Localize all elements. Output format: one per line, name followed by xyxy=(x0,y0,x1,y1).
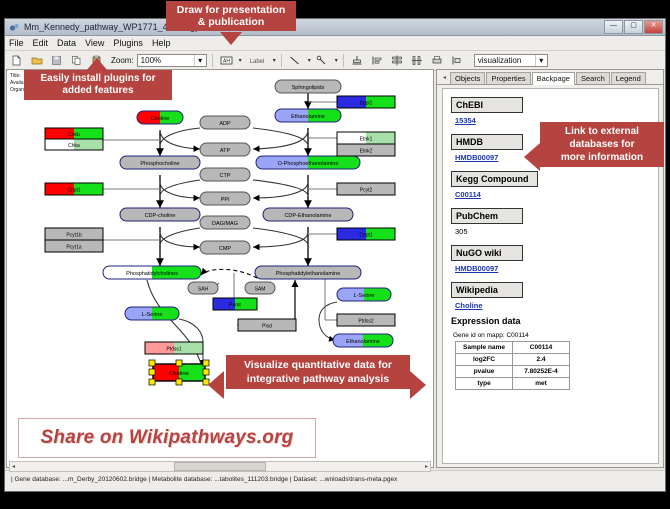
node-label: Pcyt2 xyxy=(360,188,373,194)
node-choline-top[interactable]: Choline xyxy=(137,111,183,124)
zoom-label: Zoom: xyxy=(111,56,134,65)
node-sam[interactable]: SAM xyxy=(245,282,275,294)
zoom-combobox[interactable]: 100% ▾ xyxy=(137,54,207,67)
node-label: Chpt1 xyxy=(67,188,81,194)
node-ethanolamine-top[interactable]: Ethanolamine xyxy=(275,109,341,122)
node-pisd[interactable]: Pisd xyxy=(238,319,296,331)
node-choline-selected[interactable]: Choline xyxy=(149,360,209,385)
link-kegg-compound[interactable]: C00114 xyxy=(455,190,658,199)
window-controls: — ▢ ✕ xyxy=(604,20,663,34)
node-adp[interactable]: ADP xyxy=(200,116,250,129)
node-ctp[interactable]: CTP xyxy=(200,168,250,181)
node-chkb[interactable]: Chkb xyxy=(45,128,103,139)
layer-icon[interactable] xyxy=(449,52,466,69)
callout-arrow-down xyxy=(220,32,242,45)
node-ppi[interactable]: PPi xyxy=(200,192,250,205)
node-ptdss1[interactable]: Ptdss1 xyxy=(145,342,203,354)
tab-properties[interactable]: Properties xyxy=(486,72,530,84)
node-label: Phosphatidylcholines xyxy=(126,271,178,277)
table-row: pvalue 7.80252E-4 xyxy=(456,366,570,378)
menu-view[interactable]: View xyxy=(85,38,104,48)
node-sah[interactable]: SAH xyxy=(188,282,218,294)
tab-backpage[interactable]: Backpage xyxy=(532,72,575,85)
chevron-down-icon[interactable]: ▾ xyxy=(535,55,547,66)
node-pcyt1b[interactable]: Pcyt1b xyxy=(45,228,103,240)
menu-edit[interactable]: Edit xyxy=(33,38,49,48)
link-wikipedia[interactable]: Choline xyxy=(455,301,658,310)
node-ptdss2[interactable]: Ptdss2 xyxy=(337,314,395,326)
menu-plugins[interactable]: Plugins xyxy=(113,38,143,48)
node-label: Pisd xyxy=(262,324,272,330)
link-nugo-wiki[interactable]: HMDB00097 xyxy=(455,264,658,273)
callout-arrow-left xyxy=(208,371,224,399)
canvas-horizontal-scrollbar[interactable]: ◂ ▸ xyxy=(9,461,431,472)
maximize-button[interactable]: ▢ xyxy=(624,20,643,34)
line-icon[interactable] xyxy=(287,52,304,69)
node-pemt[interactable]: Pemt xyxy=(213,298,257,310)
node-sgpl1[interactable]: Sgpl1 xyxy=(337,96,395,108)
callout-line1: Visualize quantitative data for xyxy=(244,359,392,371)
pathway-canvas[interactable]: Title: Availa Organ xyxy=(6,69,434,468)
section-header-chebi: ChEBI xyxy=(451,97,523,113)
node-label: Cept1 xyxy=(359,233,373,239)
callout-line2: databases for xyxy=(569,139,634,150)
minimize-button[interactable]: — xyxy=(604,20,623,34)
tab-legend[interactable]: Legend xyxy=(611,72,646,84)
callout-install-plugins: Easily install plugins for added feature… xyxy=(24,70,172,100)
callout-line1: Draw for presentation xyxy=(177,4,286,16)
node-l-serine-left[interactable]: L-Serine xyxy=(125,307,179,320)
node-label: DAG/MAG xyxy=(212,221,238,227)
section-header-kegg-compound: Kegg Compound xyxy=(451,171,538,187)
node-label: L-Serine xyxy=(142,312,163,318)
label-icon[interactable]: Label xyxy=(245,52,269,69)
cell-label: log2FC xyxy=(456,354,513,366)
node-phosphatidylethanolamine[interactable]: Phosphatidylethanolamine xyxy=(255,266,361,279)
node-label: CDP-choline xyxy=(145,213,176,219)
callout-line3: more information xyxy=(561,152,643,163)
save-icon[interactable] xyxy=(48,52,65,69)
node-etnk2[interactable]: Etnk2 xyxy=(337,144,395,156)
node-label: Phosphatidylethanolamine xyxy=(276,271,341,277)
node-label: Pemt xyxy=(229,303,241,309)
callout-line1: Easily install plugins for xyxy=(40,73,155,84)
callout-arrow-up xyxy=(86,58,108,71)
cell-value: 2.4 xyxy=(513,354,570,366)
value-pubchem: 305 xyxy=(455,227,658,236)
node-chpt1[interactable]: Chpt1 xyxy=(45,183,103,195)
callout-share-wikipathways: Share on Wikipathways.org xyxy=(18,418,316,458)
chevron-down-icon[interactable]: ▾ xyxy=(273,57,276,64)
callout-arrow-left xyxy=(524,143,540,171)
section-header-pubchem: PubChem xyxy=(451,208,523,224)
label-text: Label xyxy=(249,59,264,65)
node-label: PPi xyxy=(221,197,230,203)
callout-draw-presentation: Draw for presentation & publication xyxy=(166,1,296,31)
data-node-icon[interactable]: AH xyxy=(218,52,235,69)
node-label: Chkb xyxy=(68,132,80,138)
scrollbar-thumb[interactable] xyxy=(174,462,266,471)
node-label: Ptdss2 xyxy=(358,319,374,325)
window-titlebar: Mm_Kennedy_pathway_WP1771_45176.gpml — ▢… xyxy=(5,19,665,36)
svg-text:AH: AH xyxy=(223,59,230,65)
node-label: CMP xyxy=(219,246,232,252)
spacer xyxy=(451,236,658,243)
toolbar-separator xyxy=(281,54,282,67)
node-label: Ptdss1 xyxy=(166,347,182,353)
node-l-serine-right[interactable]: L-Serine xyxy=(337,288,391,301)
scroll-right-icon[interactable]: ▸ xyxy=(423,463,430,470)
node-label: Sgpl1 xyxy=(360,101,373,107)
node-label: Sphingolipids xyxy=(292,85,325,91)
anchor-icon[interactable] xyxy=(314,52,331,69)
node-pcyt2[interactable]: Pcyt2 xyxy=(337,183,395,195)
app-icon xyxy=(9,22,20,33)
share-text: Share on Wikipathways.org xyxy=(41,427,294,449)
tab-objects[interactable]: Objects xyxy=(450,72,485,84)
align-left-icon[interactable] xyxy=(369,52,386,69)
toolbar-separator xyxy=(212,54,213,67)
node-label: SAH xyxy=(198,287,209,293)
node-label: Etnk1 xyxy=(360,137,373,143)
callout-line2: & publication xyxy=(198,16,265,28)
node-dag-mag[interactable]: DAG/MAG xyxy=(200,216,250,229)
spacer xyxy=(451,273,658,280)
visualization-combobox[interactable]: visualization ▾ xyxy=(474,54,548,67)
node-pcyt1a[interactable]: Pcyt1a xyxy=(45,240,103,252)
spacer xyxy=(451,199,658,206)
node-label: Ethanolamine xyxy=(291,114,325,120)
section-header-hmdb: HMDB xyxy=(451,134,523,150)
callout-line2: integrative pathway analysis xyxy=(247,373,389,385)
node-sphingolipids[interactable]: Sphingolipids xyxy=(275,80,341,93)
section-header-wikipedia: Wikipedia xyxy=(451,282,523,298)
node-phosphatidylcholines[interactable]: Phosphatidylcholines xyxy=(103,266,201,279)
toolbar-separator xyxy=(343,54,344,67)
node-label: Pcyt1b xyxy=(66,233,82,239)
node-cept1[interactable]: Cept1 xyxy=(337,228,395,240)
distribute-horizontal-icon[interactable] xyxy=(409,52,426,69)
cell-label: pvalue xyxy=(456,366,513,378)
open-folder-icon[interactable] xyxy=(28,52,45,69)
distribute-vertical-icon[interactable] xyxy=(389,52,406,69)
menu-help[interactable]: Help xyxy=(152,38,171,48)
zoom-value: 100% xyxy=(141,56,161,65)
menu-file[interactable]: File xyxy=(9,38,24,48)
chevron-down-icon[interactable]: ▾ xyxy=(239,57,242,64)
node-phosphocholine[interactable]: Phosphocholine xyxy=(120,156,200,169)
chevron-down-icon[interactable]: ▾ xyxy=(308,57,311,64)
status-text: | Gene database: ...m_Derby_20120602.bri… xyxy=(11,476,397,483)
node-chka[interactable]: Chka xyxy=(45,139,103,150)
print-icon[interactable] xyxy=(429,52,446,69)
callout-line2: added features xyxy=(62,85,133,96)
node-label: ADP xyxy=(219,121,231,127)
tab-scroll-icon[interactable]: ◂ xyxy=(443,74,448,84)
menubar: File Edit Data View Plugins Help xyxy=(5,36,665,51)
node-label: Choline xyxy=(169,371,189,377)
align-center-icon[interactable] xyxy=(349,52,366,69)
section-header-nugo-wiki: NuGO wiki xyxy=(451,245,523,261)
statusbar: ◂ ▸ | Gene database: ...m_Derby_20120602… xyxy=(5,470,665,491)
chevron-down-icon[interactable]: ▾ xyxy=(335,57,338,64)
callout-line1: Link to external xyxy=(565,126,639,137)
expression-data-heading: Expression data xyxy=(451,316,658,326)
chevron-down-icon[interactable]: ▾ xyxy=(194,55,206,66)
node-cmp[interactable]: CMP xyxy=(200,241,250,254)
node-etnk1[interactable]: Etnk1 xyxy=(337,132,395,144)
copy-icon[interactable] xyxy=(68,52,85,69)
node-label: CTP xyxy=(220,173,231,179)
gene-id-line: Gene id on mapp: C00114 xyxy=(453,332,658,339)
node-label: Pcyt1a xyxy=(66,245,82,251)
tab-search[interactable]: Search xyxy=(576,72,610,84)
node-label: SAM xyxy=(255,287,266,293)
scroll-left-icon[interactable]: ◂ xyxy=(10,463,17,470)
new-file-icon[interactable] xyxy=(8,52,25,69)
node-label: Ethanolamine xyxy=(346,339,380,345)
node-label: CDP-Ethanolamine xyxy=(284,213,331,219)
table-row: Sample name C00114 xyxy=(456,342,570,354)
cell-value: 7.80252E-4 xyxy=(513,366,570,378)
node-label: Etnk2 xyxy=(360,149,373,155)
callout-arrow-right xyxy=(410,371,426,399)
cell-value: C00114 xyxy=(513,342,570,354)
cell-label: type xyxy=(456,378,513,390)
node-label: Phosphocholine xyxy=(140,161,179,167)
node-cdp-choline[interactable]: CDP-choline xyxy=(120,208,200,221)
close-button[interactable]: ✕ xyxy=(644,20,663,34)
callout-external-links: Link to external databases for more info… xyxy=(540,122,664,167)
sidebar-tabs: ◂ Objects Properties Backpage Search Leg… xyxy=(437,70,663,85)
callout-visualize-quantitative: Visualize quantitative data for integrat… xyxy=(226,355,410,389)
table-row: log2FC 2.4 xyxy=(456,354,570,366)
node-label: O-Phosphoethanolamine xyxy=(278,161,339,167)
node-label: ATP xyxy=(220,148,231,154)
screenshot-root: Mm_Kennedy_pathway_WP1771_45176.gpml — ▢… xyxy=(0,0,670,509)
node-atp[interactable]: ATP xyxy=(200,143,250,156)
expression-table: Sample name C00114 log2FC 2.4 pvalue 7.8… xyxy=(455,341,570,390)
pathway-diagram[interactable]: Choline ADP ATP Phosphocholine xyxy=(7,70,434,468)
visualization-value: visualization xyxy=(478,56,522,65)
node-ethanolamine-right[interactable]: Ethanolamine xyxy=(333,334,393,347)
node-o-phosphoethanolamine[interactable]: O-Phosphoethanolamine xyxy=(256,156,360,169)
menu-data[interactable]: Data xyxy=(57,38,76,48)
table-row: type met xyxy=(456,378,570,390)
node-cdp-ethanolamine[interactable]: CDP-Ethanolamine xyxy=(263,208,353,221)
cell-value: met xyxy=(513,378,570,390)
node-label: Chka xyxy=(68,143,80,149)
node-label: Choline xyxy=(151,116,170,122)
node-label: L-Serine xyxy=(354,293,375,299)
cell-label: Sample name xyxy=(456,342,513,354)
